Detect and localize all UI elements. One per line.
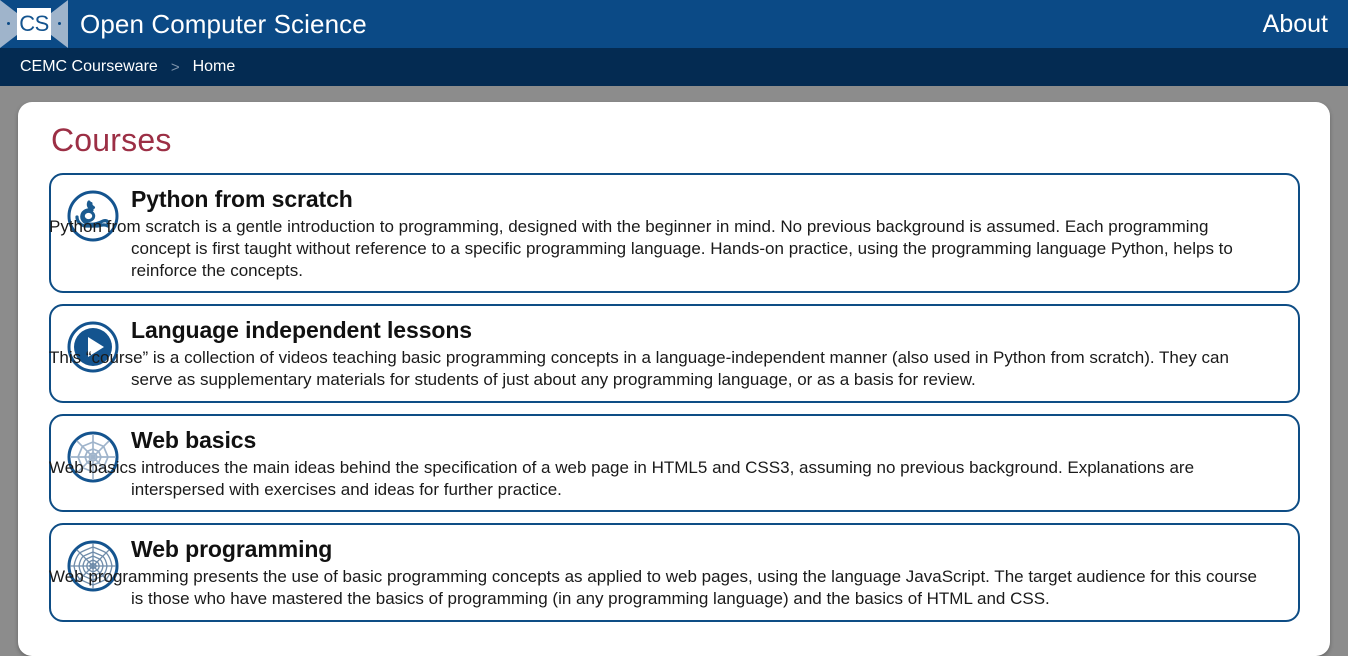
course-description: Web programming presents the use of basi… — [131, 566, 1271, 610]
content-panel: Courses Python from scratch Python from … — [18, 102, 1330, 656]
course-list: Python from scratch Python from scratch … — [49, 173, 1300, 622]
breadcrumb: CEMC Courseware > Home — [0, 48, 1348, 86]
logo-plate: CS — [17, 8, 51, 40]
site-header: CS Open Computer Science About — [0, 0, 1348, 48]
cs-bowtie-logo[interactable]: CS — [0, 0, 68, 48]
logo-dot-right-icon — [58, 22, 61, 25]
course-title: Web basics — [131, 427, 1284, 454]
course-description: Python from scratch is a gentle introduc… — [131, 216, 1271, 281]
course-body: Python from scratch Python from scratch … — [131, 186, 1284, 281]
course-title: Python from scratch — [131, 186, 1284, 213]
course-card-python-from-scratch[interactable]: Python from scratch Python from scratch … — [49, 173, 1300, 293]
header-nav: About — [1263, 10, 1328, 39]
breadcrumb-separator-icon: > — [171, 59, 180, 76]
breadcrumb-item-home: Home — [193, 58, 236, 76]
page-area: Courses Python from scratch Python from … — [0, 86, 1348, 656]
page-title: Courses — [51, 122, 1300, 159]
course-description: This “course” is a collection of videos … — [131, 347, 1271, 391]
course-card-language-independent-lessons[interactable]: Language independent lessons This “cours… — [49, 304, 1300, 403]
course-body: Web basics Web basics introduces the mai… — [131, 427, 1284, 501]
logo-dot-left-icon — [7, 22, 10, 25]
nav-item-about[interactable]: About — [1263, 10, 1328, 39]
site-title: Open Computer Science — [80, 9, 367, 40]
course-body: Web programming Web programming presents… — [131, 536, 1284, 610]
course-card-web-basics[interactable]: Web basics Web basics introduces the mai… — [49, 414, 1300, 513]
course-description: Web basics introduces the main ideas beh… — [131, 457, 1271, 501]
logo-text: CS — [19, 11, 49, 37]
course-title: Language independent lessons — [131, 317, 1284, 344]
course-body: Language independent lessons This “cours… — [131, 317, 1284, 391]
course-card-web-programming[interactable]: Web programming Web programming presents… — [49, 523, 1300, 622]
breadcrumb-item-cemc-courseware[interactable]: CEMC Courseware — [20, 58, 158, 76]
course-title: Web programming — [131, 536, 1284, 563]
